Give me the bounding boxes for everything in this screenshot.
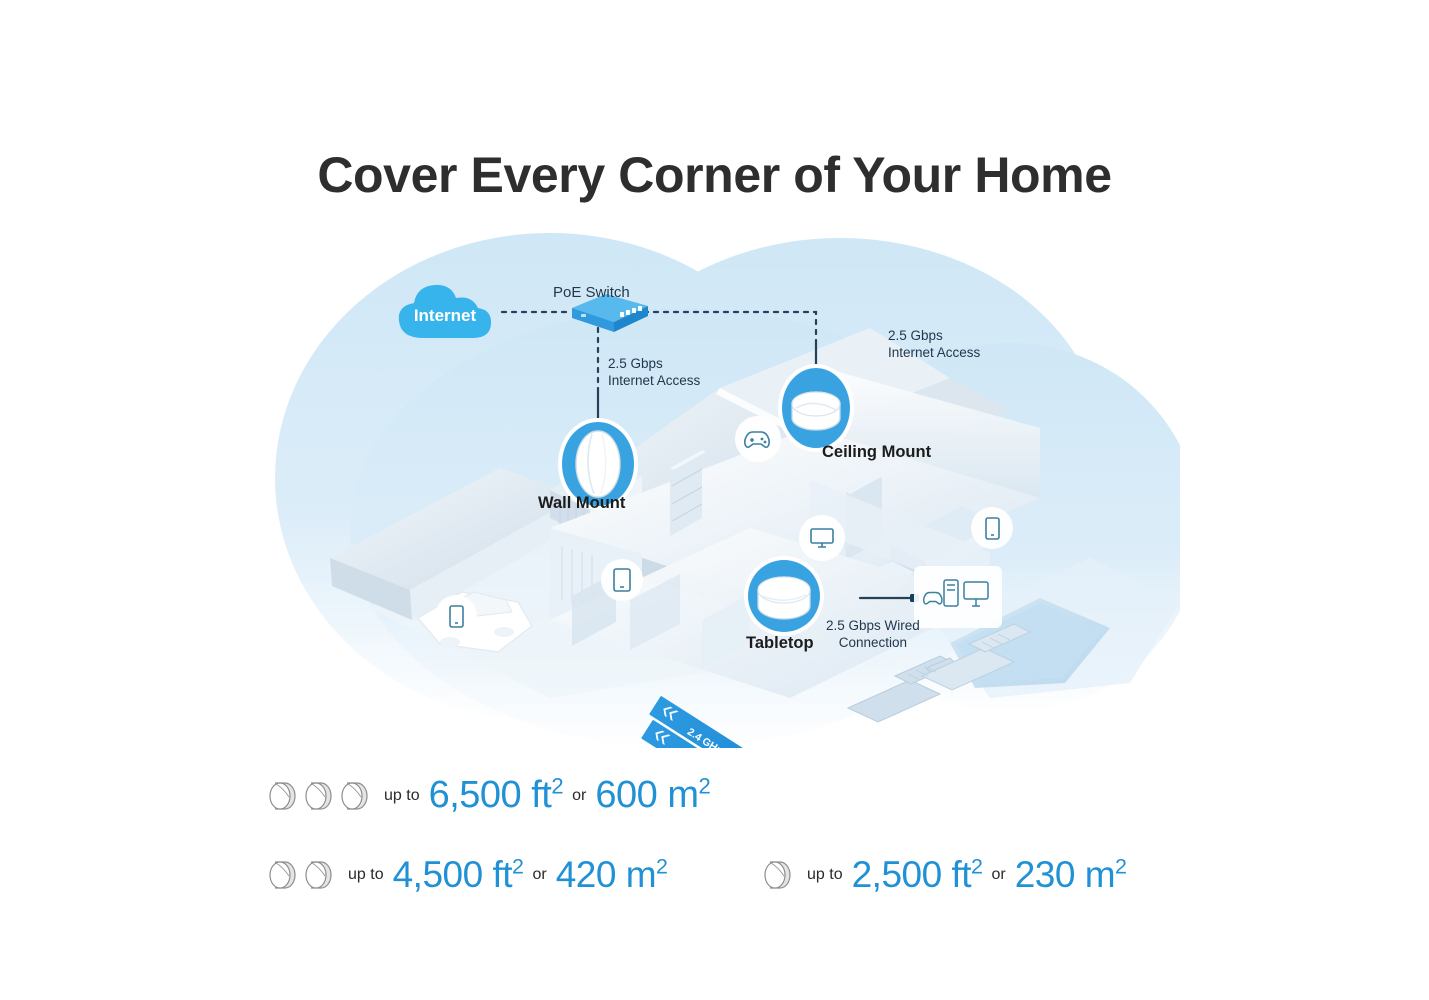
puck-group-2: [267, 856, 335, 894]
puck-group-3: [267, 777, 371, 815]
ap-unit-icon: [762, 856, 794, 894]
cable-switch-to-ceiling: [644, 312, 816, 340]
wired-clients-panel: [914, 566, 1002, 628]
coverage-stat-two-pack: up to 4,500 ft2 or 420 m2: [267, 854, 667, 896]
tabletop-wired-label: 2.5 Gbps Wired Connection: [826, 618, 920, 652]
client-badge-tablet-bedroom: [601, 559, 643, 601]
coverage-metric: 230 m2: [1015, 854, 1127, 896]
coverage-metric: 420 m2: [556, 854, 668, 896]
access-point-tabletop: [744, 556, 824, 636]
ap-unit-icon: [267, 856, 299, 894]
poe-switch-label: PoE Switch: [553, 284, 630, 303]
coverage-prefix: up to: [348, 866, 384, 884]
coverage-imperial: 6,500 ft2: [429, 774, 564, 817]
ceiling-mount-label: Ceiling Mount: [822, 443, 931, 462]
internet-cloud-badge: Internet: [393, 278, 497, 342]
client-badge-phone-hallway: [435, 595, 477, 637]
coverage-imperial: 2,500 ft2: [852, 854, 983, 896]
wall-uplink-label: 2.5 Gbps Internet Access: [608, 356, 700, 390]
cloud-icon: [393, 278, 497, 342]
ap-unit-icon: [339, 777, 371, 815]
ap-unit-icon: [303, 777, 335, 815]
coverage-prefix: up to: [384, 787, 420, 805]
access-point-ceiling-mount: [778, 364, 854, 452]
client-badge-gamepad-upstairs: [735, 416, 781, 462]
home-network-coverage-diagram: 2.4 GHz Wi-Fi Connection 5 GHz Wi-Fi Con…: [250, 228, 1180, 748]
ceiling-uplink-label: 2.5 Gbps Internet Access: [888, 328, 980, 362]
isometric-house-illustration: 2.4 GHz Wi-Fi Connection 5 GHz Wi-Fi Con…: [250, 228, 1180, 748]
ap-unit-icon: [303, 856, 335, 894]
tabletop-label: Tabletop: [746, 634, 814, 653]
client-badge-monitor-livingroom: [799, 515, 845, 561]
client-badge-phone-poolside: [971, 507, 1013, 549]
coverage-stat-one-pack: up to 2,500 ft2 or 230 m2: [762, 854, 1126, 896]
coverage-prefix: up to: [807, 866, 843, 884]
coverage-stat-three-pack: up to 6,500 ft2 or 600 m2: [267, 774, 710, 817]
wall-mount-label: Wall Mount: [538, 494, 625, 513]
coverage-stats: up to 6,500 ft2 or 600 m2 up to 4,500 ft…: [0, 762, 1429, 932]
puck-group-1: [762, 856, 794, 894]
ap-unit-icon: [267, 777, 299, 815]
coverage-conjunction: or: [572, 787, 586, 805]
page-title: Cover Every Corner of Your Home: [0, 148, 1429, 203]
coverage-conjunction: or: [532, 866, 546, 884]
coverage-metric: 600 m2: [595, 774, 710, 817]
coverage-conjunction: or: [991, 866, 1005, 884]
coverage-imperial: 4,500 ft2: [393, 854, 524, 896]
